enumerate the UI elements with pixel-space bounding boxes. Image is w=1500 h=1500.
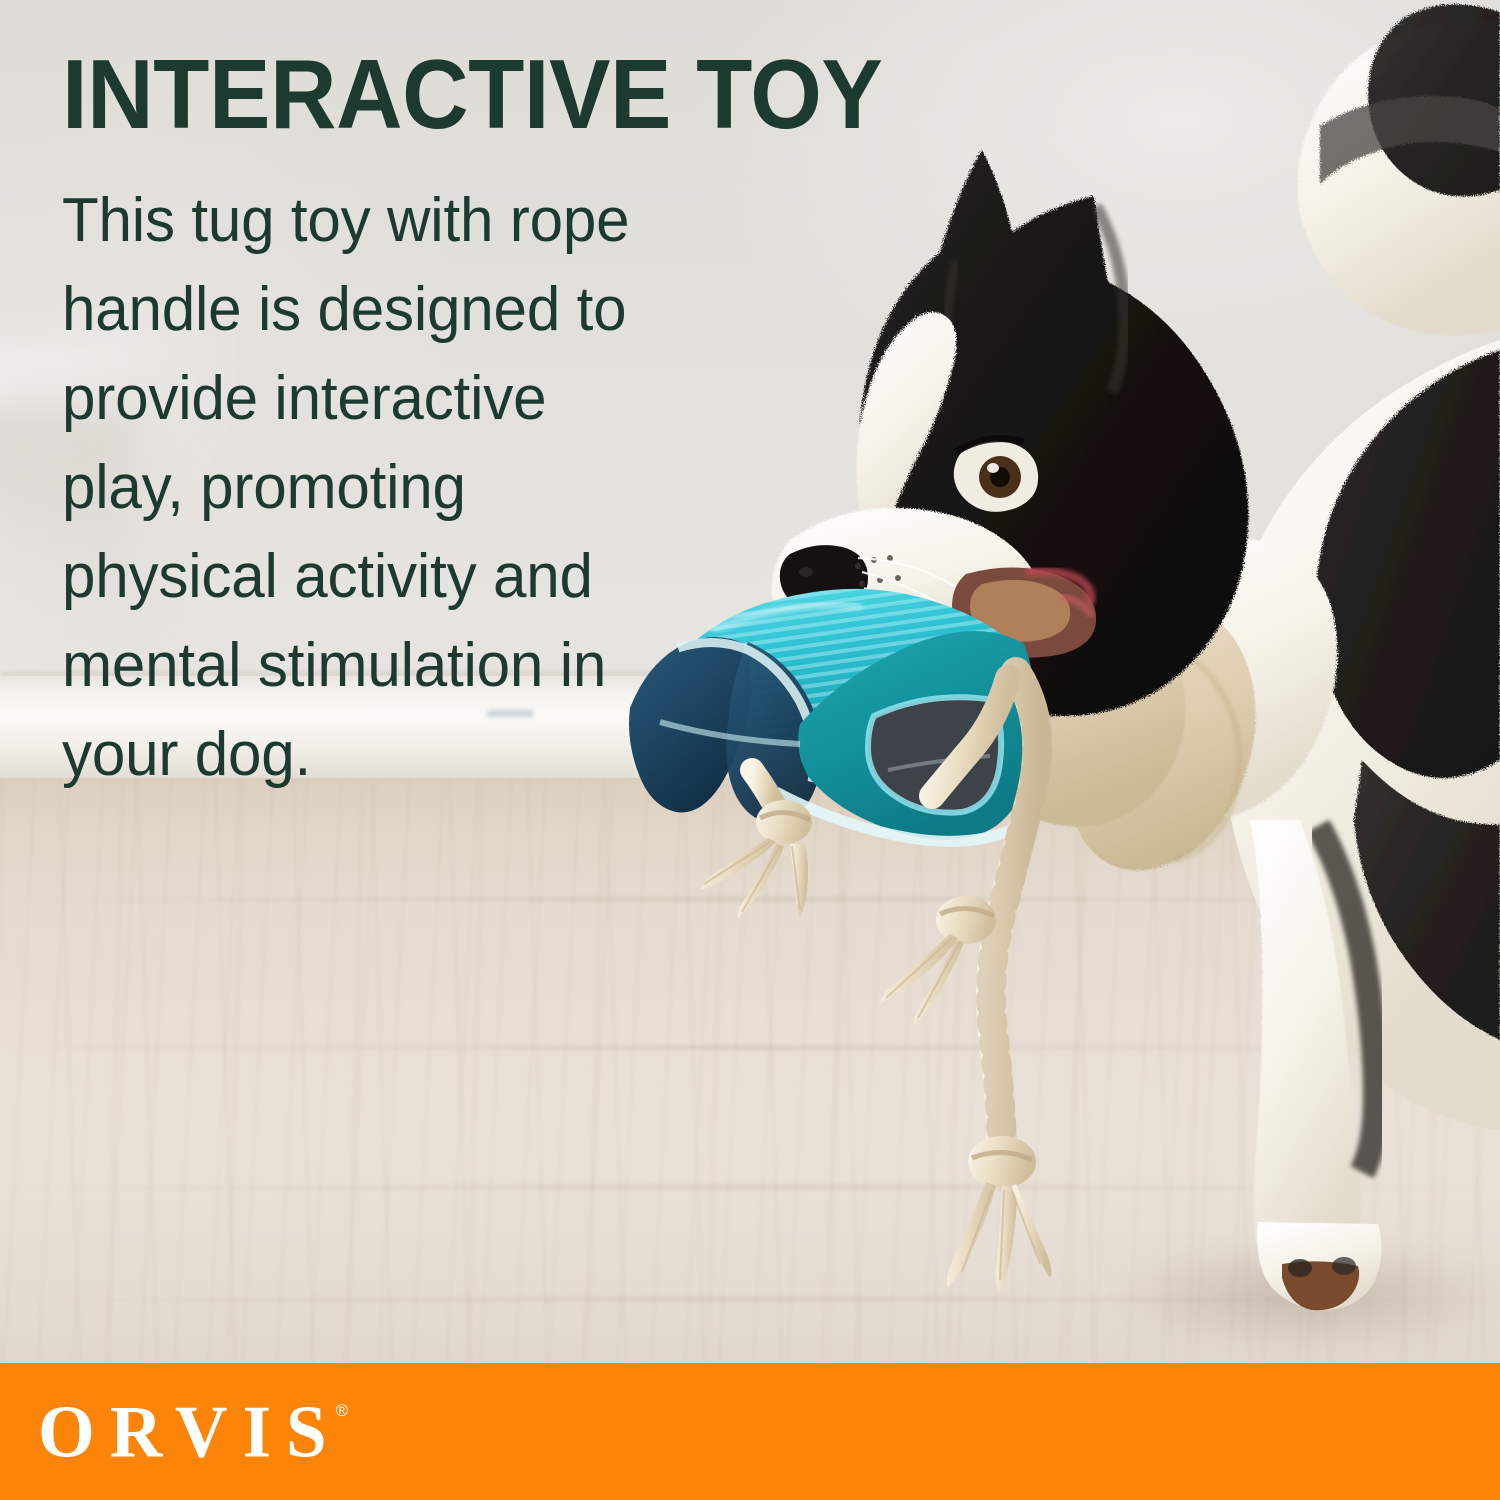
- rope-tassel-left: [700, 838, 808, 918]
- brand-logo: ORVIS ®: [38, 1363, 348, 1500]
- dog-tail: [1298, 4, 1500, 335]
- brand-bar: ORVIS ®: [0, 1363, 1500, 1500]
- body-copy: This tug toy with rope handle is designe…: [62, 142, 683, 799]
- product-feature-card: INTERACTIVE TOY This tug toy with rope h…: [0, 0, 1500, 1500]
- rope-tassel-middle: [880, 934, 964, 1026]
- copy-block: INTERACTIVE TOY This tug toy with rope h…: [62, 46, 762, 799]
- page-title: INTERACTIVE TOY: [62, 46, 720, 142]
- orvis-wordmark: ORVIS: [38, 1394, 342, 1468]
- rope-tassel-bottom: [947, 1182, 1052, 1292]
